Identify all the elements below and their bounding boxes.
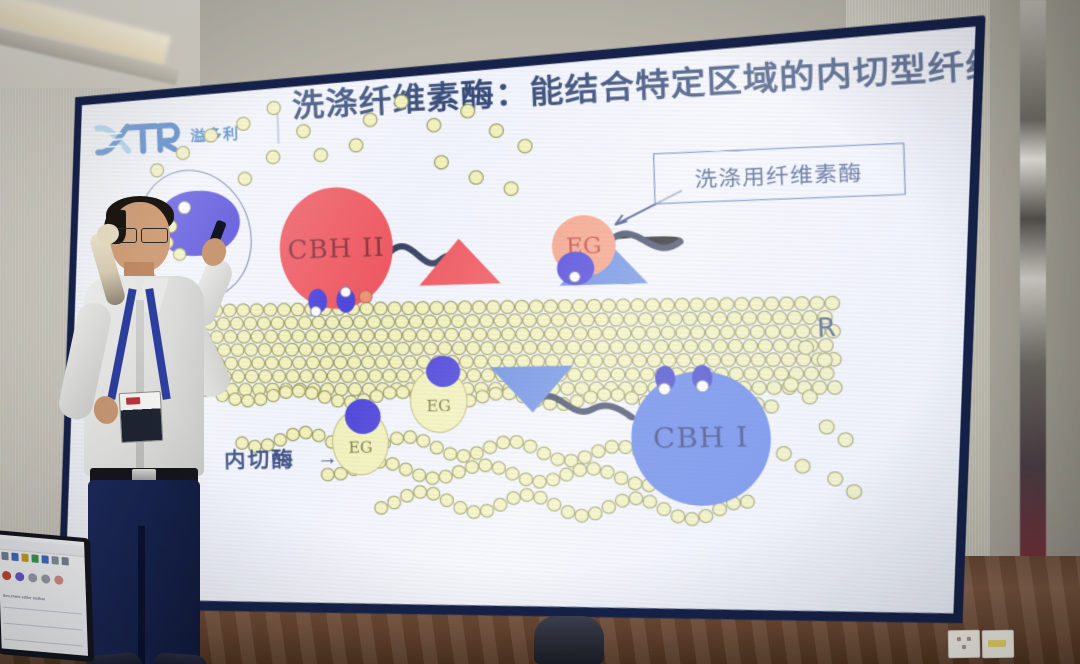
socket-label-tag (988, 640, 1006, 647)
wall-socket-left[interactable] (948, 630, 980, 659)
callout-text: 洗涤用纤维素酶 (654, 144, 905, 203)
wall-socket-right[interactable] (982, 630, 1014, 659)
eg-top-active-sites (569, 271, 580, 282)
cbh1-active-sites (655, 365, 713, 395)
shoe-right (153, 652, 208, 664)
shirt-placket (136, 300, 144, 476)
trouser-leg-gap (138, 526, 145, 664)
callout-detergent-cellulase: 洗涤用纤维素酶 (653, 143, 906, 205)
glasses-icon (110, 228, 172, 241)
presentation-photo: 溢多利 洗涤纤维素酶：能结合特定区域的内切型纤维素酶 (0, 0, 1080, 664)
laptop-screen[interactable]: document editor toolbar (0, 534, 88, 655)
label-reducing-end: R (816, 312, 836, 343)
laptop-toolbar-icons-row2[interactable] (2, 570, 83, 588)
badge-logo (126, 397, 140, 405)
name-badge (119, 391, 164, 443)
laptop[interactable]: document editor toolbar (0, 532, 102, 664)
laptop-doc-text: document editor toolbar (3, 593, 45, 602)
label-endoglucanase-arrow: → (317, 447, 339, 471)
cbh2-active-sites (308, 286, 373, 317)
floor-speaker (534, 616, 604, 664)
